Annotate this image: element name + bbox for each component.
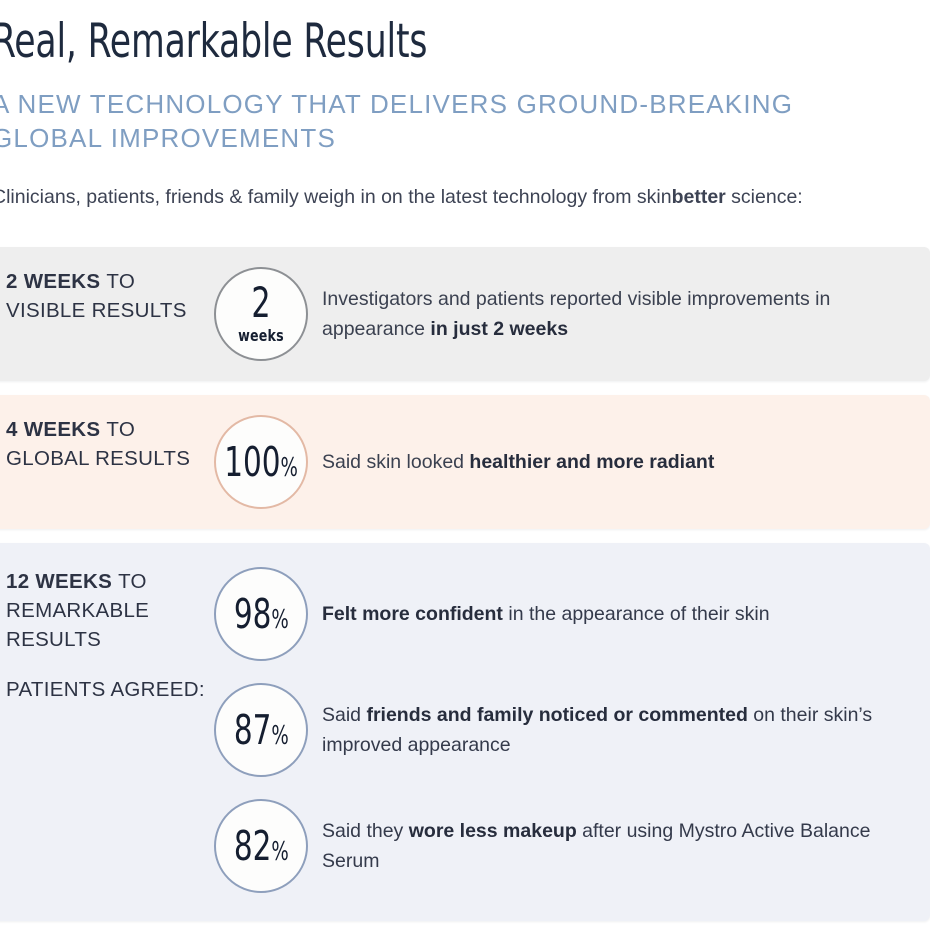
card-label-lead: 4 WEEKS [6,418,106,441]
card-label-4-weeks: 4 WEEKS TO GLOBAL RESULTS [0,415,214,473]
page-intro-after: science: [726,186,803,208]
stat-row: 2weeksInvestigators and patients reporte… [214,267,930,361]
page-header: Real, Remarkable Results A NEW TECHNOLOG… [0,0,930,213]
percent-sign: % [271,720,288,750]
stat-text-before: Said skin looked [322,451,469,473]
card-stat-rows: 100%Said skin looked healthier and more … [214,415,930,509]
card-stat-rows: 2weeksInvestigators and patients reporte… [214,267,930,361]
stat-value: 87% [234,711,289,750]
results-card-2-weeks: 2 WEEKS TO VISIBLE RESULTS2weeksInvestig… [0,247,930,381]
stat-description: Felt more confident in the appearance of… [322,599,770,629]
card-label-2-weeks: 2 WEEKS TO VISIBLE RESULTS [0,267,214,325]
stat-row: 82%Said they wore less makeup after usin… [214,799,930,893]
card-label-lead: 2 WEEKS [6,270,106,293]
page-subtitle-line2: GLOBAL IMPROVEMENTS [0,121,930,155]
stat-value: 2 [251,283,270,323]
card-label-lead: 12 WEEKS [6,570,118,593]
stat-text-before: Said they [322,820,409,842]
stat-unit: weeks [238,326,284,345]
card-stat-rows: 98%Felt more confident in the appearance… [214,567,930,893]
stat-row: 98%Felt more confident in the appearance… [214,567,930,661]
stat-bubble-98: 98% [214,567,308,661]
page-intro-brand: better [672,186,726,208]
page-subtitle: A NEW TECHNOLOGY THAT DELIVERS GROUND-BR… [0,87,930,156]
results-card-4-weeks: 4 WEEKS TO GLOBAL RESULTS100%Said skin l… [0,395,930,529]
page-intro-before: Clinicians, patients, friends & family w… [0,186,672,208]
results-card-list: 2 WEEKS TO VISIBLE RESULTS2weeksInvestig… [0,247,930,921]
stat-row: 87%Said friends and family noticed or co… [214,683,930,777]
stat-value: 98% [234,595,289,634]
stat-description: Said they wore less makeup after using M… [322,816,902,876]
stat-row: 100%Said skin looked healthier and more … [214,415,930,509]
results-infographic: Real, Remarkable Results A NEW TECHNOLOG… [0,0,930,930]
stat-text-before: Said [322,704,366,726]
stat-description: Said skin looked healthier and more radi… [322,447,714,477]
card-label-12-weeks: 12 WEEKS TO REMARKABLE RESULTSPATIENTS A… [0,567,214,704]
stat-text-emphasis: healthier and more radiant [469,451,714,473]
stat-bubble-87: 87% [214,683,308,777]
stat-text-emphasis: wore less makeup [409,820,577,842]
stat-text-emphasis: friends and family noticed or commented [366,704,747,726]
results-card-12-weeks: 12 WEEKS TO REMARKABLE RESULTSPATIENTS A… [0,543,930,921]
percent-sign: % [280,452,297,482]
stat-value: 82% [234,827,289,866]
stat-text-emphasis: Felt more confident [322,603,503,625]
percent-sign: % [271,836,288,866]
stat-text-before: Investigators and patients reported visi… [322,288,830,340]
percent-sign: % [271,604,288,634]
stat-value: 100% [224,443,298,482]
stat-bubble-2: 2weeks [214,267,308,361]
page-intro: Clinicians, patients, friends & family w… [0,182,842,214]
stat-text-emphasis: in just 2 weeks [430,318,568,340]
stat-description: Investigators and patients reported visi… [322,284,902,344]
page-subtitle-line1: A NEW TECHNOLOGY THAT DELIVERS GROUND-BR… [0,87,930,121]
stat-text-after: in the appearance of their skin [503,603,770,625]
page-title: Real, Remarkable Results [0,0,761,65]
stat-bubble-100: 100% [214,415,308,509]
card-label-sub: PATIENTS AGREED: [6,675,214,704]
stat-bubble-82: 82% [214,799,308,893]
stat-description: Said friends and family noticed or comme… [322,700,902,760]
